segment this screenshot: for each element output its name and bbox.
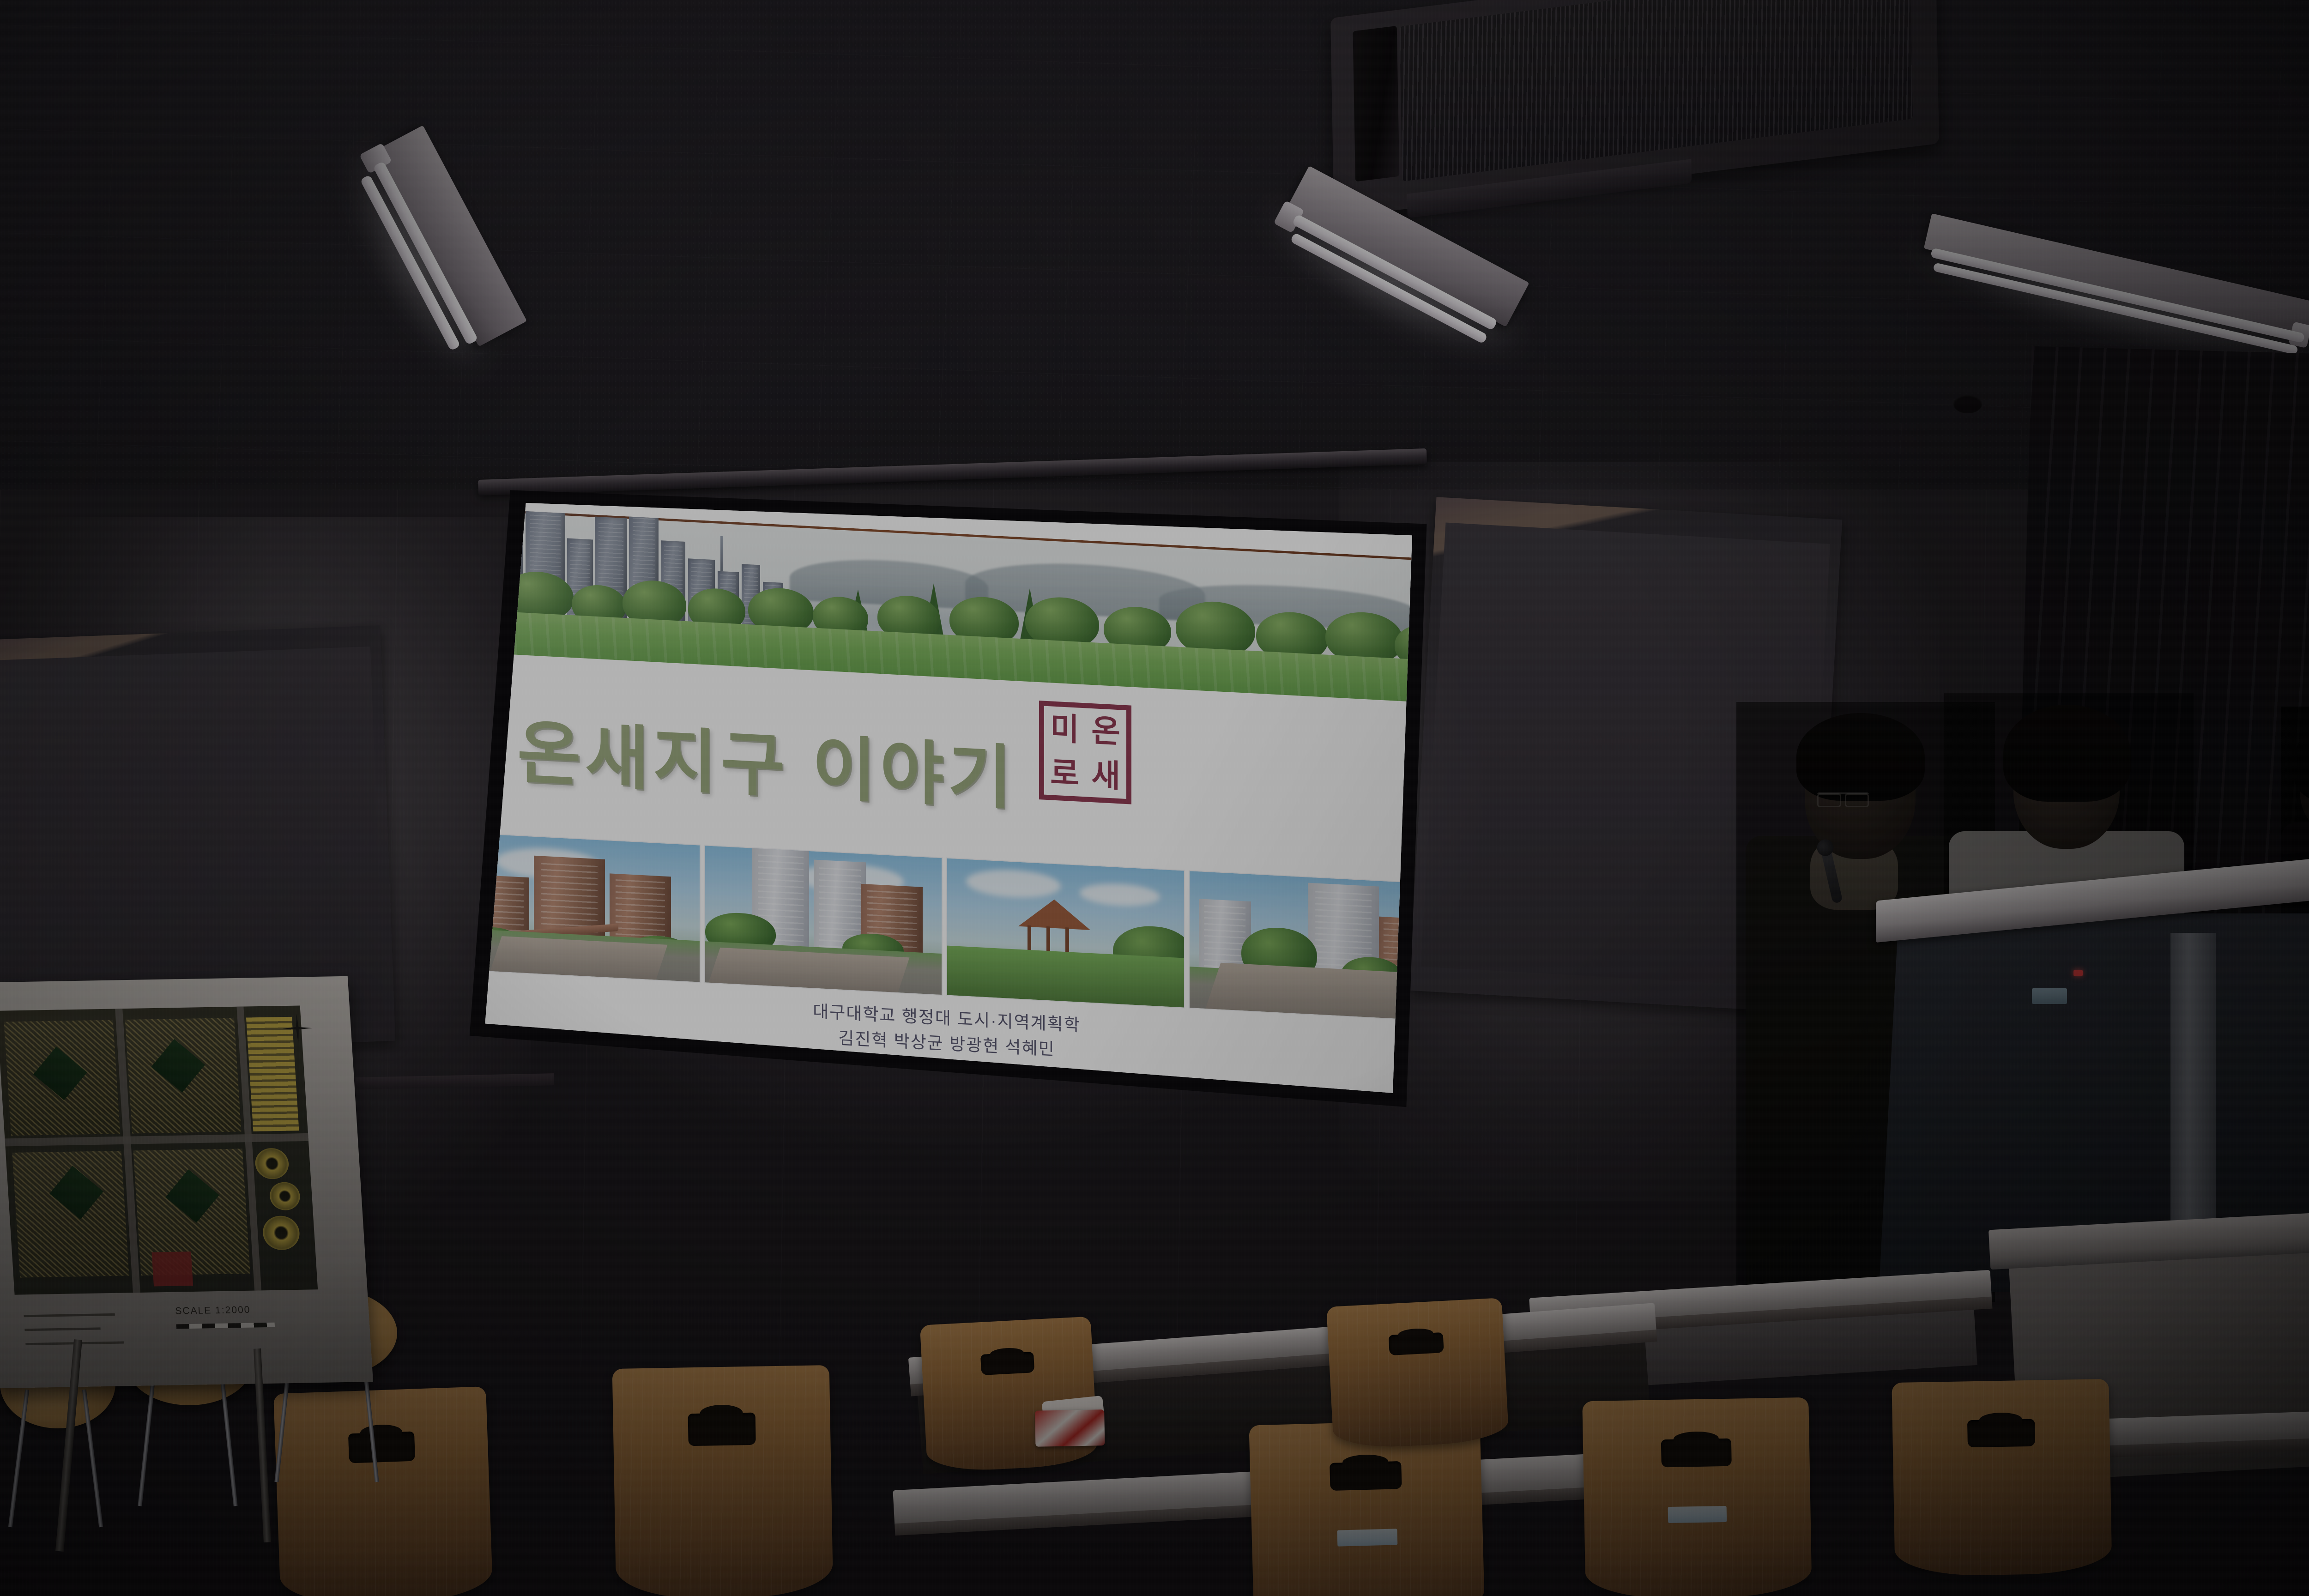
plan-roundel [269,1182,301,1211]
seal-char-0: 미 [1044,706,1085,753]
chair-back [612,1365,834,1596]
korean-seal-stamp: 미 온 로 새 [1039,701,1131,804]
student-hair [2003,705,2131,802]
ceiling-speaker-left [1953,395,1982,413]
projection-screen-assembly: 온새지구 이야기 미 온 로 새 [462,471,1432,1108]
presentation-slide: 온새지구 이야기 미 온 로 새 [462,476,1432,1108]
classroom-photo-scene: 온새지구 이야기 미 온 로 새 [0,0,2309,1596]
chair-handle-cutout [980,1352,1034,1376]
seal-char-1: 온 [1085,708,1126,755]
tower-spire [720,536,723,571]
poster-scale-bar [176,1323,275,1329]
chair-back [1326,1298,1509,1450]
chair-handle-cutout [1330,1461,1402,1491]
wood-grain [1582,1397,1812,1596]
chair-sticker [1668,1506,1727,1523]
lectern-power-led [2073,970,2083,976]
poster-legend-line [24,1328,100,1331]
cloud [966,868,1061,900]
cloud [1080,882,1160,907]
wood-grain [1326,1298,1509,1450]
rendering-photo-4 [1189,870,1427,1021]
chair-back [1582,1397,1812,1596]
chair [1582,1397,1812,1596]
chair [1326,1298,1509,1450]
snack-on-desk [1027,1385,1125,1455]
seal-char-2: 로 [1044,750,1085,797]
skyline-tower [462,542,492,614]
chair-back [1892,1379,2112,1577]
snack-wrapper [1035,1409,1105,1447]
presenter-hair [1796,713,1925,801]
plan-red-lot [152,1251,193,1286]
wood-grain [612,1365,834,1596]
wood-grain [1892,1379,2112,1577]
chair-handle-cutout [1389,1332,1444,1355]
lectern-label-plate [2032,988,2067,1004]
chair-handle-cutout [1967,1419,2035,1447]
plan-roundel [254,1148,290,1179]
chair [612,1365,834,1596]
person3-hair [2293,720,2309,803]
glasses-icon [1817,792,1869,804]
projection-screen-surface: 온새지구 이야기 미 온 로 새 [462,471,1432,1108]
rendering-photo-3 [946,858,1185,1009]
slide-banner-image [462,507,1432,703]
chair-handle-cutout [1661,1439,1732,1468]
chair [1892,1379,2112,1577]
street [1205,963,1424,1019]
poster-site-plan [0,1005,318,1294]
desk-row-right [2103,1408,2309,1557]
site-plan-poster: SCALE 1:2000 [0,976,373,1389]
ac-louver [1353,26,1399,181]
slide-title: 온새지구 이야기 [517,696,1016,823]
seal-char-3: 새 [1085,752,1126,799]
chair-handle-cutout [688,1413,756,1446]
poster-legend-line [24,1313,115,1317]
plan-road [5,1133,309,1147]
chair-sticker [1337,1529,1397,1546]
poster-scale-label: SCALE 1:2000 [175,1305,251,1317]
plan-roundel [262,1216,300,1251]
rendering-photo-2 [704,845,943,996]
compass-icon [282,1013,313,1043]
